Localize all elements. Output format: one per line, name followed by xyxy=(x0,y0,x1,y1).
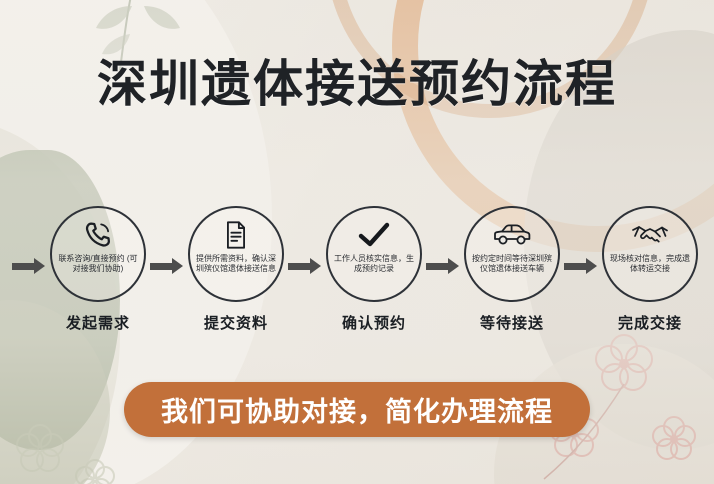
checkmark-icon xyxy=(357,218,391,252)
flow-step-5-description: 现场核对信息，完成遗体转运交接 xyxy=(607,254,693,274)
phone-icon xyxy=(83,218,113,252)
arrow-head xyxy=(172,258,183,274)
flow-step-3-label: 确认预约 xyxy=(322,312,426,333)
arrow-head xyxy=(448,258,459,274)
flow-step-2-label: 提交资料 xyxy=(184,312,288,333)
flow-step-1-label: 发起需求 xyxy=(46,312,150,333)
arrow-head xyxy=(34,258,45,274)
arrow-shaft xyxy=(564,263,588,270)
arrow-shaft xyxy=(426,263,450,270)
flow-step-4-description: 按约定时间等待深圳殡仪馆遗体接送车辆 xyxy=(469,254,555,274)
arrow-head xyxy=(586,258,597,274)
flow-arrow-2 xyxy=(288,256,322,276)
arrow-shaft xyxy=(150,263,174,270)
flow-step-1-description: 联系咨询/直接预约 (可对接我们协助) xyxy=(55,254,141,274)
arrow-head xyxy=(310,258,321,274)
flow-step-1[interactable]: 联系咨询/直接预约 (可对接我们协助) 发起需求 xyxy=(46,206,150,333)
process-flow: 联系咨询/直接预约 (可对接我们协助) 发起需求 提供所需资料，确认深圳殡仪馆遗… xyxy=(0,206,714,356)
flow-step-1-circle: 联系咨询/直接预约 (可对接我们协助) xyxy=(50,206,146,302)
flow-step-4-circle: 按约定时间等待深圳殡仪馆遗体接送车辆 xyxy=(464,206,560,302)
document-icon xyxy=(222,218,250,252)
flow-arrow-3 xyxy=(426,256,460,276)
flow-step-4[interactable]: 按约定时间等待深圳殡仪馆遗体接送车辆 等待接送 xyxy=(460,206,564,333)
flow-step-3[interactable]: 工作人员核实信息，生成预约记录 确认预约 xyxy=(322,206,426,333)
flow-arrow-0 xyxy=(12,256,46,276)
flow-arrow-4 xyxy=(564,256,598,276)
cta-banner[interactable]: 我们可协助对接，简化办理流程 xyxy=(124,382,590,437)
flow-step-5-circle: 现场核对信息，完成遗体转运交接 xyxy=(602,206,698,302)
flow-step-2-description: 提供所需资料，确认深圳殡仪馆遗体接送信息 xyxy=(193,254,279,274)
flow-arrow-1 xyxy=(150,256,184,276)
vehicle-icon xyxy=(492,218,532,252)
page-title: 深圳遗体接送预约流程 xyxy=(0,44,714,116)
arrow-shaft xyxy=(288,263,312,270)
flow-step-3-circle: 工作人员核实信息，生成预约记录 xyxy=(326,206,422,302)
poster-canvas: 深圳遗体接送预约流程 联系咨询/直接预约 (可对接我们协助) 发起需求 xyxy=(0,0,714,484)
arrow-shaft xyxy=(12,263,36,270)
cta-banner-text: 我们可协助对接，简化办理流程 xyxy=(161,390,553,429)
flow-step-2[interactable]: 提供所需资料，确认深圳殡仪馆遗体接送信息 提交资料 xyxy=(184,206,288,333)
flow-step-5[interactable]: 现场核对信息，完成遗体转运交接 完成交接 xyxy=(598,206,702,333)
flow-step-2-circle: 提供所需资料，确认深圳殡仪馆遗体接送信息 xyxy=(188,206,284,302)
handshake-icon xyxy=(631,218,669,252)
flow-step-5-label: 完成交接 xyxy=(598,312,702,333)
flow-step-4-label: 等待接送 xyxy=(460,312,564,333)
flow-step-3-description: 工作人员核实信息，生成预约记录 xyxy=(331,254,417,274)
